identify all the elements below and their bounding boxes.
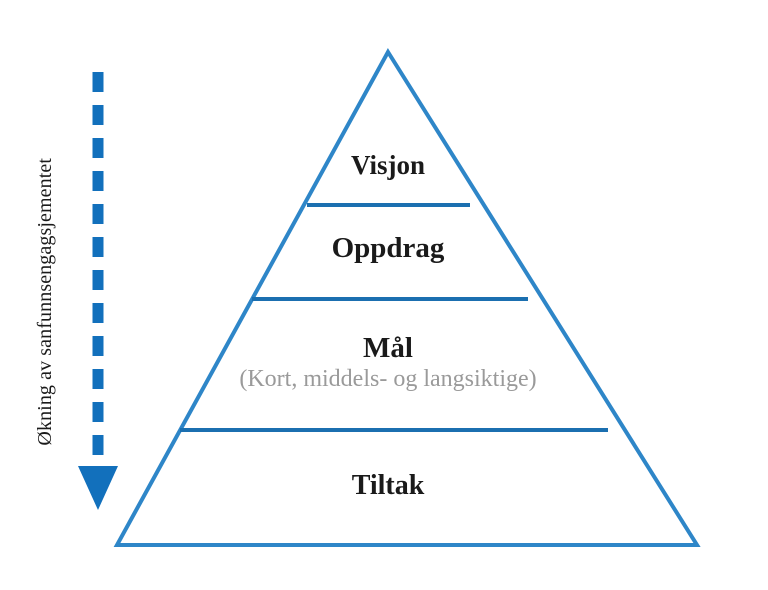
increase-arrow-head [78,466,118,510]
pyramid-diagram-canvas [0,0,768,590]
